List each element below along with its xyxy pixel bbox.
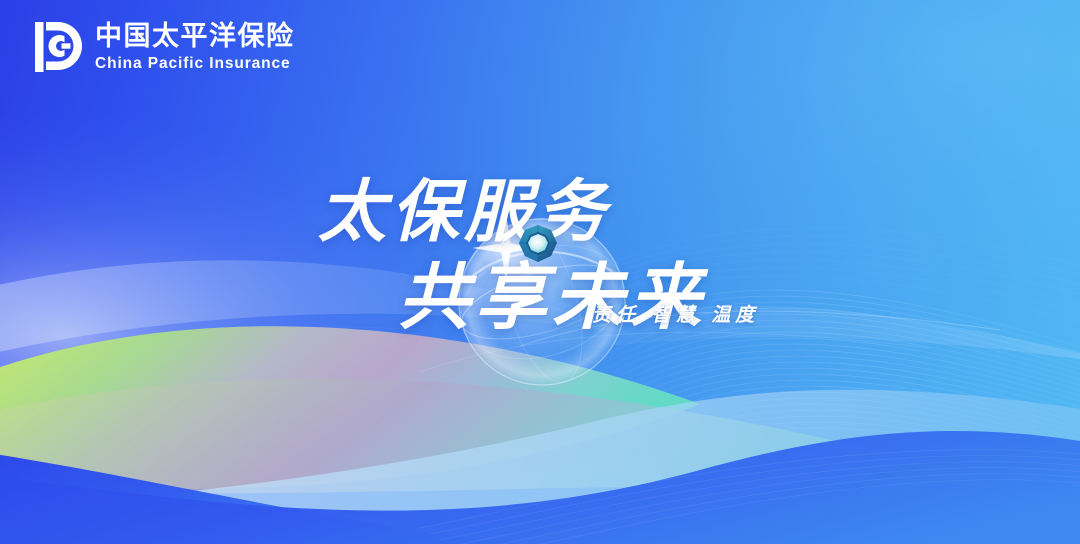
deep-blue-wave-left [0,446,520,544]
deep-blue-wave-main [0,431,1080,544]
brand-logo[interactable]: 中国太平洋保险 China Pacific Insurance [33,20,295,74]
hairline-wave-texture-upper-left [0,327,530,524]
lens-leaf-secondary [0,379,1010,493]
hairline-wave-texture-right [560,290,1080,504]
promo-banner: 中国太平洋保险 China Pacific Insurance 太保服务 共享未… [0,0,1080,544]
brand-name-cn: 中国太平洋保险 [95,23,295,50]
highlight-stroke [520,311,1000,346]
brand-name-en: China Pacific Insurance [95,56,295,72]
background-wave-illustration [0,0,1080,544]
background-art [0,0,1080,544]
soft-light-band-right [560,306,1080,368]
headline-subtitle: 责任 智慧 温度 [592,300,759,327]
pale-blue-wave [0,390,1080,544]
hairline-wave-texture-foreground [420,450,1080,544]
glowing-globe-icon [452,212,632,392]
lens-leaf-main [0,326,700,489]
soft-light-band-left [0,260,640,366]
faceted-gem-icon [516,222,560,266]
headline-line-2: 共享未来 [398,238,706,343]
hairline-wave-texture-upper-right [520,228,1080,340]
sparkle-star-icon [448,208,558,318]
headline-line-1: 太保服务 [318,156,610,255]
cpic-pc-monogram-icon [33,20,83,74]
brand-logo-text: 中国太平洋保险 China Pacific Insurance [95,23,295,72]
highlight-stroke-2 [420,332,930,372]
